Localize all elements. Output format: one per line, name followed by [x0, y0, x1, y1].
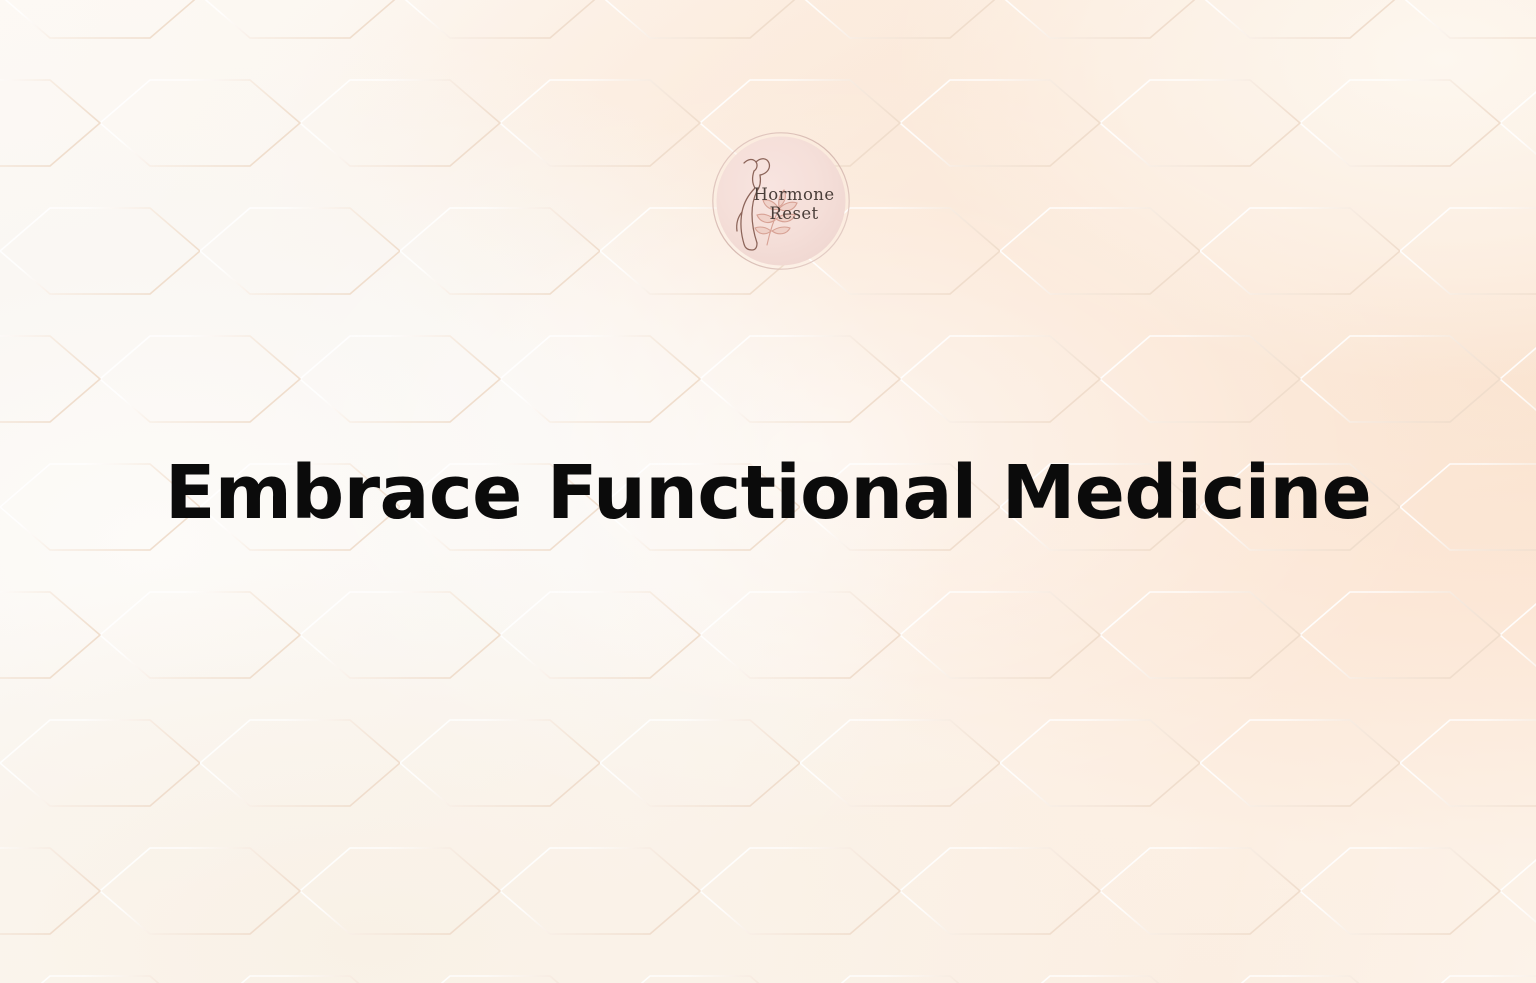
page-title-container: Embrace Functional Medicine [0, 449, 1536, 537]
logo[interactable]: Hormone Reset [711, 131, 851, 271]
logo-text-line2: Reset [769, 204, 818, 223]
hero-banner: Hormone Reset Embrace Functional Medicin… [0, 0, 1536, 983]
page-title: Embrace Functional Medicine [165, 449, 1371, 537]
logo-text-line1: Hormone [754, 185, 835, 204]
